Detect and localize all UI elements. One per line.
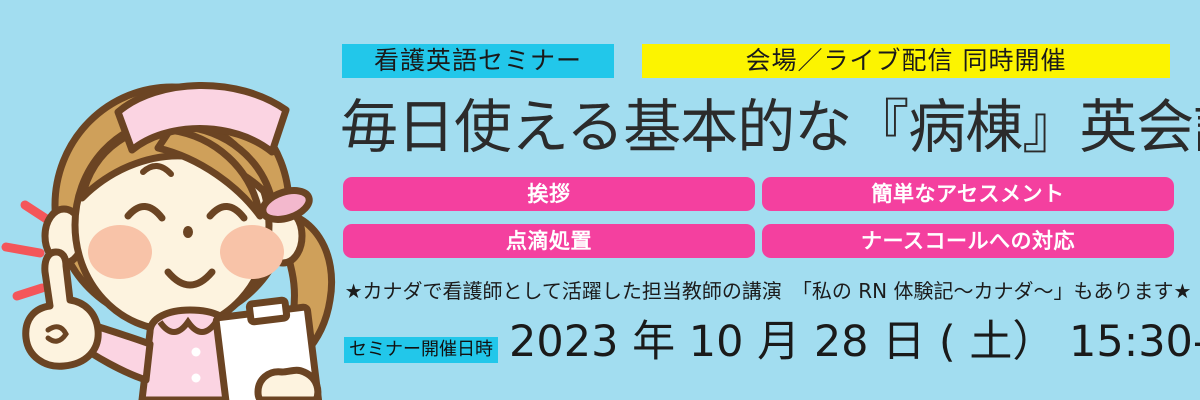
hand-right <box>258 370 318 400</box>
nose <box>183 226 193 238</box>
cheek-right <box>220 225 284 279</box>
uniform-button <box>192 348 201 357</box>
topic-pill-greetings: 挨拶 <box>343 177 755 211</box>
badge-row: 看護英語セミナー 会場／ライブ配信 同時開催 <box>342 44 1194 78</box>
topic-pill-iv-drip: 点滴処置 <box>343 224 755 258</box>
lecture-note: ★カナダで看護師として活躍した担当教師の講演 「私の RN 体験記〜カナダ〜」も… <box>344 277 1192 305</box>
page-title: 毎日使える基本的な『病棟』英会話 <box>340 94 1196 160</box>
topic-pill-nurse-call: ナースコールへの対応 <box>762 224 1174 258</box>
topic-pill-assessment: 簡単なアセスメント <box>762 177 1174 211</box>
seminar-banner: 看護英語セミナー 会場／ライブ配信 同時開催 毎日使える基本的な『病棟』英会話 … <box>0 0 1200 400</box>
badge-event-format: 会場／ライブ配信 同時開催 <box>642 44 1170 78</box>
topic-pill-grid: 挨拶 簡単なアセスメント 点滴処置 ナースコールへの対応 <box>343 177 1183 265</box>
schedule-label: セミナー開催日時 <box>344 337 498 363</box>
banner-content: 看護英語セミナー 会場／ライブ配信 同時開催 毎日使える基本的な『病棟』英会話 … <box>336 0 1200 400</box>
schedule-datetime: 2023 年 10 月 28 日 ( 土） 15:30-17:30 <box>509 316 1200 368</box>
nurse-illustration <box>0 0 340 400</box>
cheek-left <box>88 225 152 279</box>
motion-lines-icon <box>6 205 48 296</box>
uniform-button <box>192 374 201 383</box>
badge-seminar-type: 看護英語セミナー <box>342 44 614 78</box>
schedule-row: セミナー開催日時2023 年 10 月 28 日 ( 土） 15:30-17:3… <box>344 316 1196 368</box>
